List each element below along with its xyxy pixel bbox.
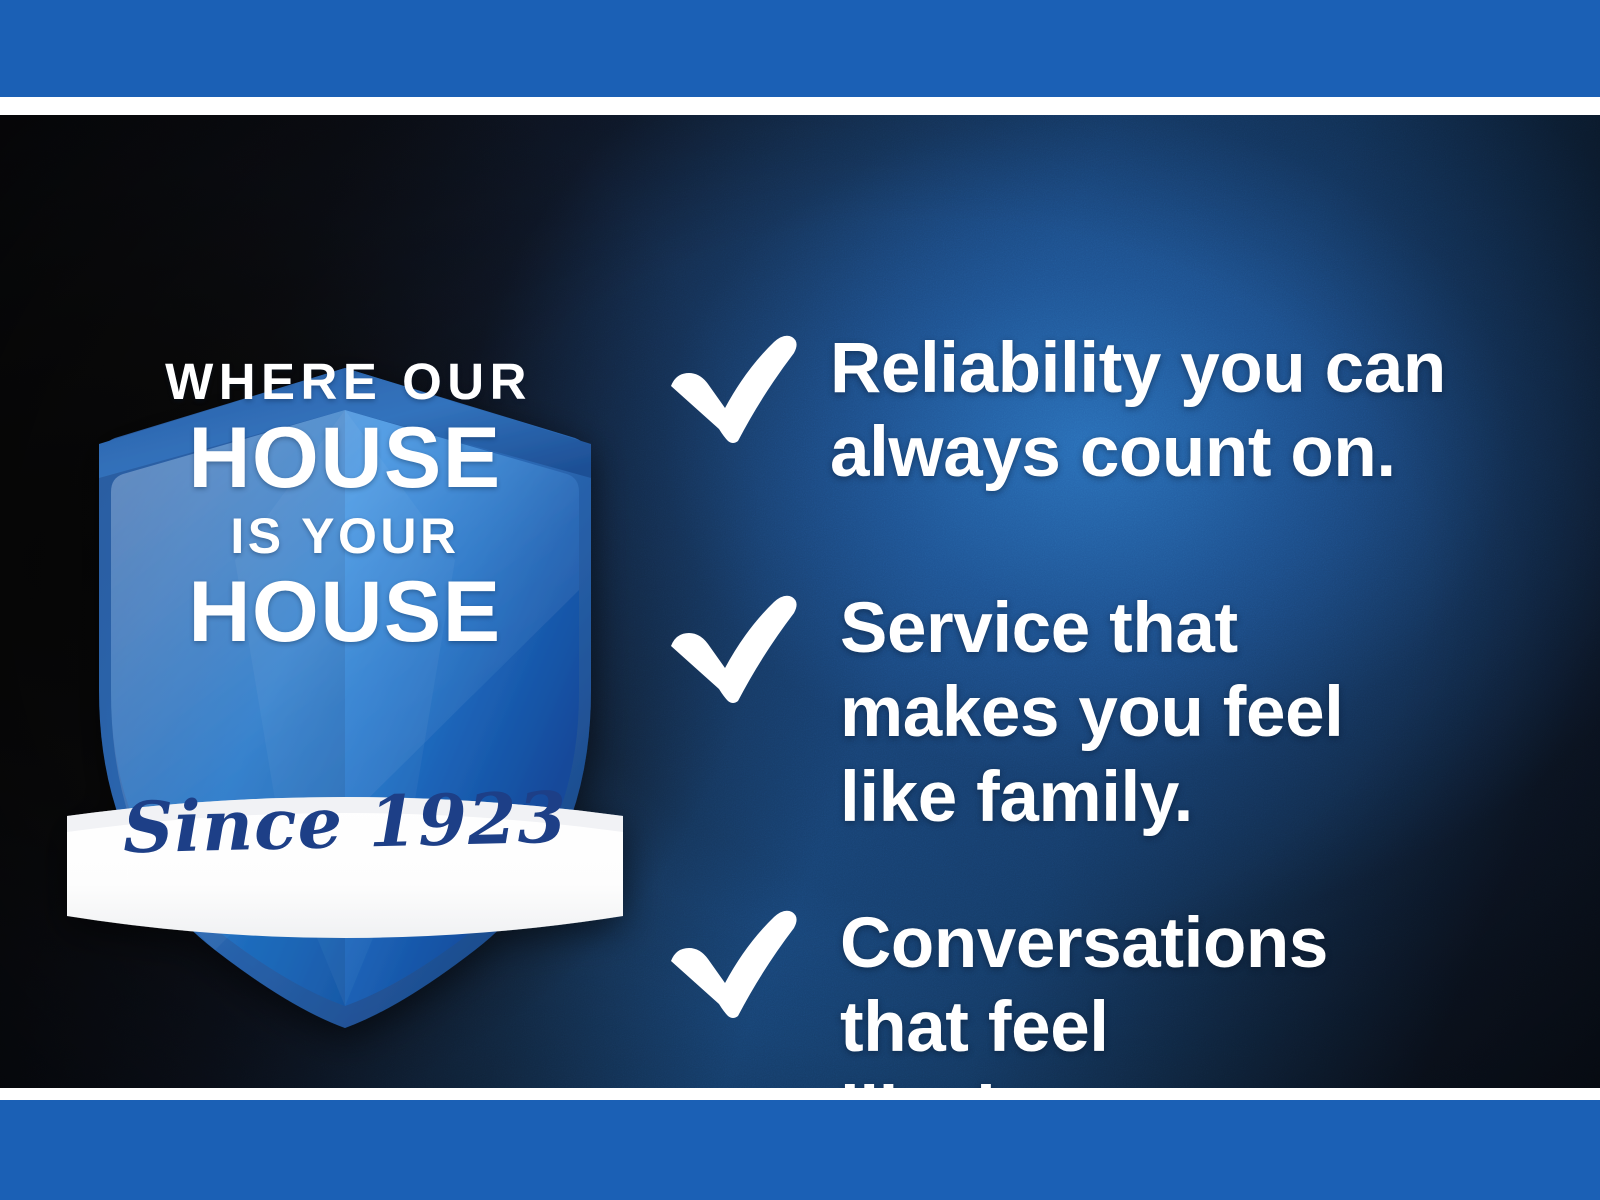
shield-emblem: Where Our House Is Your House Since 1923	[55, 260, 635, 1050]
benefit-text-3: Conversations that feel like home.	[840, 900, 1328, 1088]
benefit-item-3: Conversations that feel like home.	[664, 900, 1328, 1088]
benefit-text-2: Service that makes you feel like family.	[840, 585, 1344, 840]
benefit-item-1: Reliability you can always count on.	[664, 325, 1446, 496]
bottom-brand-bar	[0, 1100, 1600, 1200]
benefit-text-1: Reliability you can always count on.	[830, 325, 1446, 496]
bottom-white-divider	[0, 1088, 1600, 1100]
check-icon	[664, 904, 804, 1020]
top-white-divider	[0, 97, 1600, 115]
promo-poster: Where Our House Is Your House Since 1923…	[0, 0, 1600, 1200]
check-icon	[664, 329, 804, 445]
benefit-list: Reliability you can always count on. Ser…	[664, 265, 1544, 1088]
top-brand-bar	[0, 0, 1600, 97]
check-icon	[664, 589, 804, 705]
benefit-item-2: Service that makes you feel like family.	[664, 585, 1344, 840]
main-stage: Where Our House Is Your House Since 1923…	[0, 115, 1600, 1088]
